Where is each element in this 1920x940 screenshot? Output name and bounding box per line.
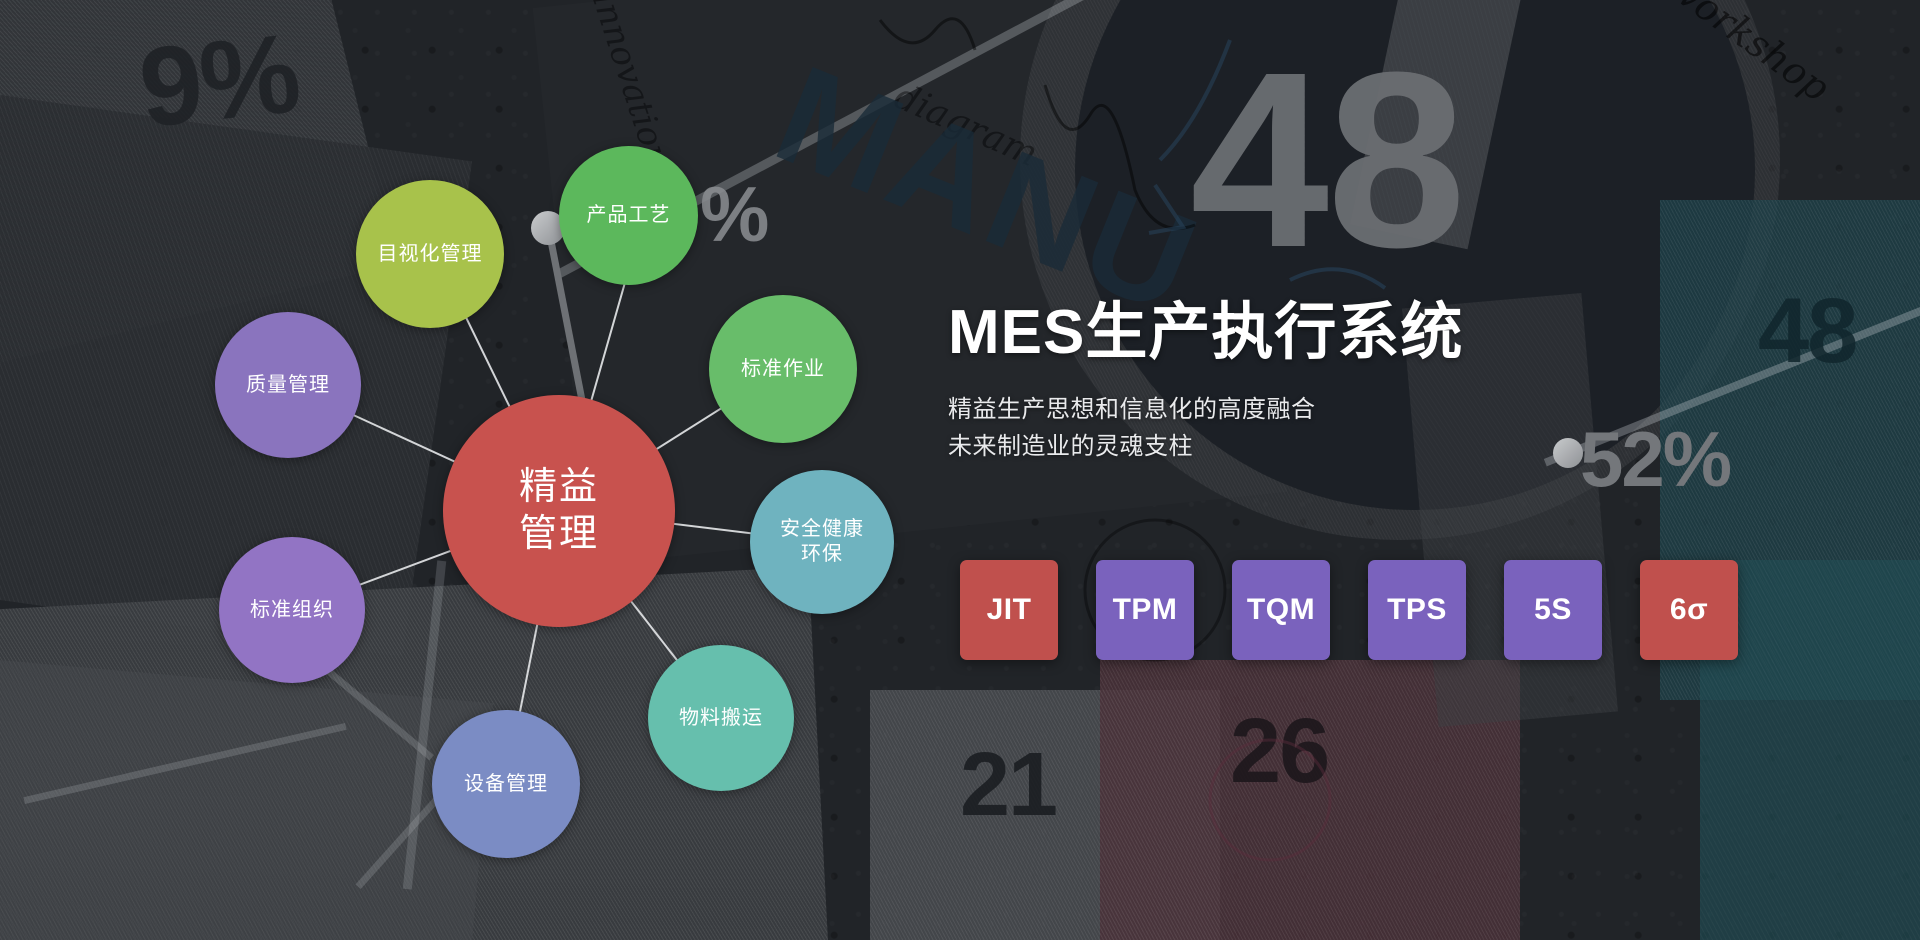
bg-number-21: 21 bbox=[960, 740, 1056, 830]
mindmap-node-quality-management[interactable]: 质量管理 bbox=[215, 312, 361, 458]
hero-subtitle-line1: 精益生产思想和信息化的高度融合 bbox=[948, 391, 1878, 428]
mindmap-node-label: 质量管理 bbox=[246, 373, 330, 398]
mindmap-node-standard-work[interactable]: 标准作业 bbox=[709, 295, 857, 443]
bg-number-26: 26 bbox=[1230, 705, 1328, 797]
mindmap-node-label: 目视化管理 bbox=[378, 242, 483, 267]
hero-subtitles: 精益生产思想和信息化的高度融合 未来制造业的灵魂支柱 bbox=[948, 391, 1878, 465]
badge-label: JIT bbox=[987, 593, 1032, 627]
mindmap-node-label: 标准组织 bbox=[250, 598, 334, 623]
mindmap-node-label: 标准作业 bbox=[741, 357, 825, 382]
bg-number-48-large: 48 bbox=[1190, 35, 1464, 285]
badge-label: TPM bbox=[1113, 593, 1178, 627]
mindmap-center-label-line1: 精益 bbox=[519, 466, 599, 508]
badge-label: TQM bbox=[1247, 593, 1315, 627]
badge-6sigma[interactable]: 6σ bbox=[1640, 560, 1738, 660]
badge-tps[interactable]: TPS bbox=[1368, 560, 1466, 660]
badge-label: TPS bbox=[1387, 593, 1447, 627]
mindmap-node-label: 产品工艺 bbox=[587, 203, 671, 228]
badge-5s[interactable]: 5S bbox=[1504, 560, 1602, 660]
mindmap: 精益管理 目视化管理 产品工艺 标准作业 质量管理 安全健康环保 标准组织 物料… bbox=[0, 0, 940, 940]
mindmap-node-label-line2: 环保 bbox=[801, 543, 843, 565]
mindmap-center-label-line2: 管理 bbox=[519, 513, 599, 555]
mindmap-node-material-handling[interactable]: 物料搬运 bbox=[648, 645, 794, 791]
mindmap-node-label-line1: 安全健康 bbox=[780, 518, 864, 540]
banner-canvas: 48 9% % 52% 48 21 26 innovation diagram … bbox=[0, 0, 1920, 940]
mindmap-center-node[interactable]: 精益管理 bbox=[443, 395, 675, 627]
mindmap-node-label: 设备管理 bbox=[464, 772, 548, 797]
badge-jit[interactable]: JIT bbox=[960, 560, 1058, 660]
mindmap-center-label: 精益管理 bbox=[519, 464, 599, 559]
mindmap-node-label: 物料搬运 bbox=[679, 706, 763, 731]
badge-label: 5S bbox=[1534, 593, 1572, 627]
hero-copy: MES生产执行系统 精益生产思想和信息化的高度融合 未来制造业的灵魂支柱 bbox=[948, 300, 1878, 465]
page-title: MES生产执行系统 bbox=[948, 300, 1878, 365]
methodology-badge-row: JIT TPM TQM TPS 5S 6σ bbox=[960, 560, 1738, 660]
mindmap-node-label: 安全健康环保 bbox=[780, 517, 864, 567]
mindmap-node-product-process[interactable]: 产品工艺 bbox=[559, 146, 698, 285]
badge-tpm[interactable]: TPM bbox=[1096, 560, 1194, 660]
hero-subtitle-line2: 未来制造业的灵魂支柱 bbox=[948, 428, 1878, 465]
mindmap-node-visual-management[interactable]: 目视化管理 bbox=[356, 180, 504, 328]
mindmap-node-safety-health-environment[interactable]: 安全健康环保 bbox=[750, 470, 894, 614]
mindmap-node-equipment-management[interactable]: 设备管理 bbox=[432, 710, 580, 858]
mindmap-node-standard-organization[interactable]: 标准组织 bbox=[219, 537, 365, 683]
badge-tqm[interactable]: TQM bbox=[1232, 560, 1330, 660]
badge-label: 6σ bbox=[1670, 593, 1708, 627]
